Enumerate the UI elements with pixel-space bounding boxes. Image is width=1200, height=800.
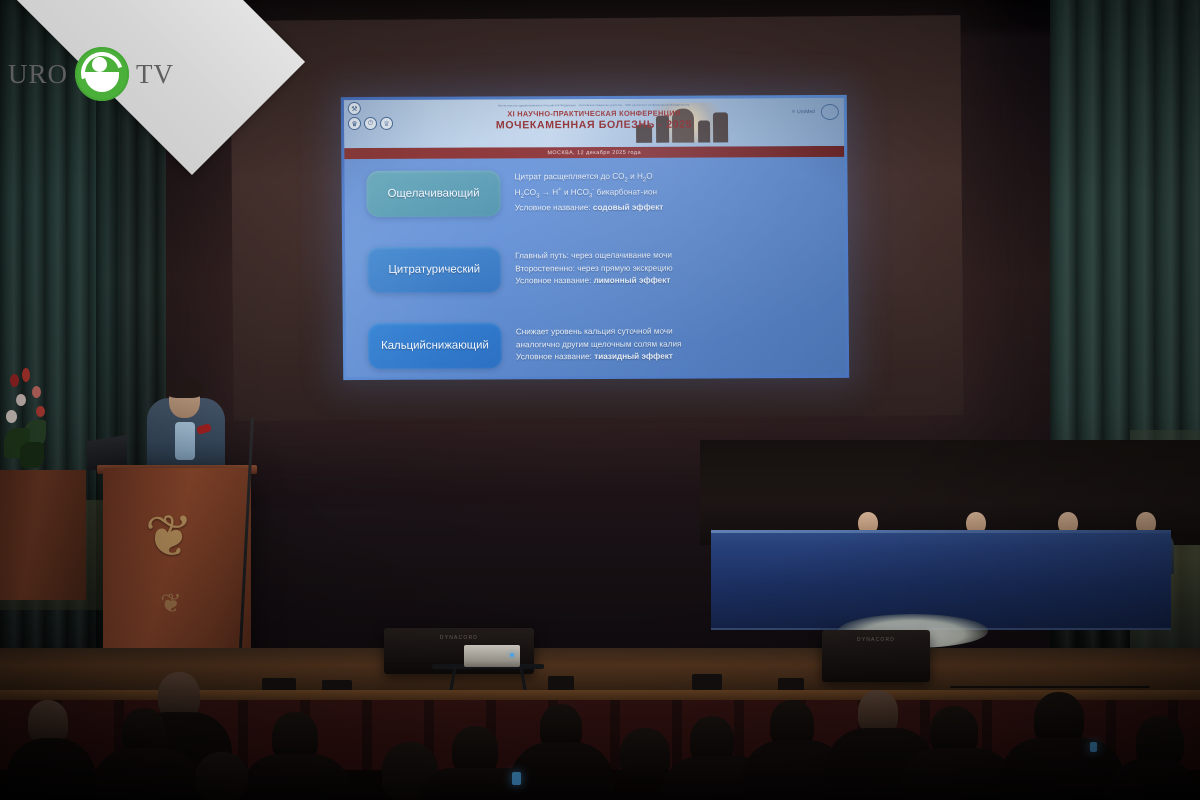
audience-shoulders <box>92 748 202 800</box>
audience-head <box>196 752 248 800</box>
row3-line1: Снижает уровень кальция суточной мочи <box>516 326 682 339</box>
slide-row-3-text: Снижает уровень кальция суточной мочи ан… <box>516 326 682 365</box>
dynacord-monitor-right: DYNACORD <box>822 630 930 682</box>
slide-pill-citraturicheskiy: Цитратурический <box>367 246 501 293</box>
side-table-left <box>0 470 86 600</box>
slide-pill-kalciysnizhayushchiy: Кальцийснижающий <box>368 322 502 369</box>
row1-caption: Условное название: содовый эффект <box>515 202 664 215</box>
slide-row-1-text: Цитрат расщепляется до CO2 и H2O H2CO3 →… <box>514 171 663 215</box>
audience-shoulders <box>510 742 614 800</box>
slide-header-banner: ⚒ ♛ ⏱ ♕ Министерство здравоо <box>344 98 844 148</box>
audience-head <box>452 726 498 774</box>
header-right-brands: ⚛ UroMed <box>791 104 839 120</box>
dynacord-brand-label-left: DYNACORD <box>440 635 478 641</box>
slide-body: Ощелачивающий Цитрат расщепляется до CO2… <box>344 157 846 377</box>
row2-caption: Условное название: лимонный эффект <box>515 275 672 288</box>
uromed-logo-icon: ⚛ UroMed <box>791 109 815 115</box>
audience-shoulders <box>898 748 1016 800</box>
slide-row-3: Кальцийснижающий Снижает уровень кальция… <box>368 321 830 369</box>
row3-caption: Условное название: тиазидный эффект <box>516 351 682 364</box>
phone-screen-glow <box>1090 742 1097 752</box>
header-title-line: МОЧЕКАМЕННАЯ БОЛЕЗНЬ - 2025 <box>344 118 844 132</box>
audience-head <box>620 728 670 780</box>
slide-pill-ochelachivayushchiy: Ощелачивающий <box>366 170 500 217</box>
panel-table-area: МАЛХАСЯН Виген Андреевич ЕРЁМИНА Екатери… <box>700 440 1200 630</box>
row2-line2: Второстепенно: через прямую экскрецию <box>515 262 672 275</box>
slide-row-2: Цитратурический Главный путь: через ощел… <box>367 245 829 293</box>
row1-line1: Цитрат расщепляется до CO2 и H2O <box>514 171 663 187</box>
floor-wedge-monitor-4 <box>692 674 722 690</box>
audience-shoulders <box>240 754 352 800</box>
conference-photo: ⚒ ♛ ⏱ ♕ Министерство здравоо <box>0 0 1200 800</box>
audience-shoulders <box>1000 738 1124 800</box>
stage-cable-3 <box>950 686 1150 688</box>
presentation-slide: ⚒ ♛ ⏱ ♕ Министерство здравоо <box>341 95 849 380</box>
projector-icon <box>464 645 520 667</box>
dynacord-brand-label-right: DYNACORD <box>857 637 895 643</box>
flower-arrangement-left <box>2 368 64 478</box>
header-titles: Министерство здравоохранения Российской … <box>344 103 844 132</box>
row3-line2: аналогично другим щелочным солям калия <box>516 338 682 351</box>
projector-led-indicator <box>510 653 514 657</box>
slide-place-date: МОСКВА, 12 декабря 2025 года <box>547 149 641 155</box>
podium-ornament-icon: ❦ <box>145 588 197 614</box>
audience-shoulders <box>6 738 96 800</box>
row2-line1: Главный путь: через ощелачивание мочи <box>515 250 672 263</box>
speaker-hair <box>166 378 203 398</box>
speaker-shirt <box>175 422 195 460</box>
row1-line2: H2CO3 → H+ и HCO3- бикарбонат-ион <box>515 186 664 202</box>
urotv-circle-logo <box>75 47 129 101</box>
kidney-logo-icon <box>821 104 839 120</box>
podium-area: ❦ ❦ <box>95 380 295 670</box>
russian-coat-of-arms: ❦ <box>133 508 205 570</box>
urotv-watermark: URO TV <box>8 38 198 110</box>
phone-screen-glow <box>512 772 521 785</box>
watermark-uro-text: URO <box>8 59 68 90</box>
slide-row-2-text: Главный путь: через ощелачивание мочи Вт… <box>515 250 673 289</box>
watermark-tv-text: TV <box>136 59 174 90</box>
slide-row-1: Ощелачивающий Цитрат расщепляется до CO2… <box>366 169 828 217</box>
